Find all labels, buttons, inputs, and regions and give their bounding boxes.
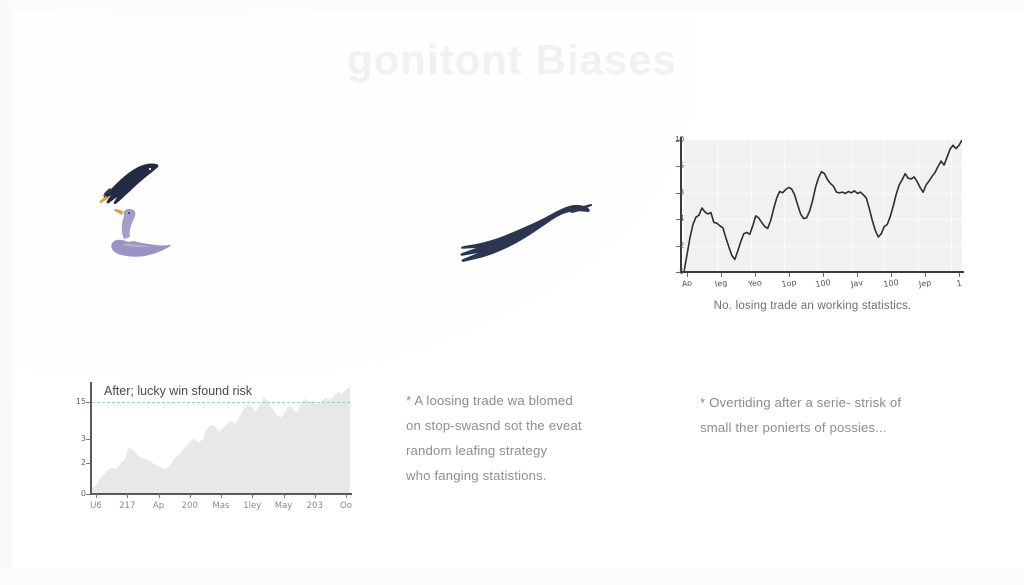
- x-tick-mark: [159, 494, 160, 498]
- y-tick-label: 0: [66, 489, 86, 498]
- x-tick-label: 200: [182, 501, 198, 511]
- x-tick-label: 100: [815, 278, 831, 289]
- text-column-middle: * A loosing trade wa blomed on stop-swas…: [406, 388, 636, 488]
- x-tick-mark: [925, 273, 926, 277]
- risk-plot-area: [92, 384, 350, 494]
- risk-area-series: [92, 384, 350, 494]
- risk-threshold-line: [92, 402, 350, 403]
- x-tick-label: 100: [883, 278, 899, 289]
- x-tick-mark: [789, 273, 790, 277]
- x-tick-mark: [755, 273, 756, 277]
- x-tick-label: 1ley: [243, 501, 261, 511]
- y-tick-mark: [86, 463, 90, 464]
- y-tick-label: 0: [660, 267, 684, 276]
- x-tick-label: Oo: [340, 501, 352, 511]
- black-swan-silhouette: [452, 186, 592, 278]
- x-tick-mark: [315, 494, 316, 498]
- x-tick-mark: [721, 273, 722, 277]
- y-tick-label: 10: [660, 135, 684, 144]
- bullet-line: on stop-swasnd sot the eveat: [406, 413, 636, 438]
- y-tick-label: 3: [66, 434, 86, 443]
- x-tick-label: Mas: [213, 501, 230, 511]
- y-tick-label: 5: [660, 161, 684, 170]
- x-tick-mark: [252, 494, 253, 498]
- x-tick-label: 1: [956, 279, 962, 289]
- canvas-left-edge: [0, 0, 12, 585]
- x-tick-label: 1op: [781, 278, 797, 289]
- x-tick-mark: [687, 273, 688, 277]
- canvas-bottom-edge: [0, 569, 1024, 585]
- x-tick-mark: [190, 494, 191, 498]
- x-tick-mark: [891, 273, 892, 277]
- y-tick-label: 4: [660, 214, 684, 223]
- y-tick-mark: [676, 166, 680, 167]
- chart-risk-after-win: After; lucky win sfound risk 15320 U6217…: [62, 382, 362, 517]
- x-tick-mark: [221, 494, 222, 498]
- x-tick-mark: [823, 273, 824, 277]
- bullet-line: * Overtiding after a serie- strisk of: [700, 390, 962, 415]
- x-tick-label: 217: [119, 501, 135, 511]
- x-tick-label: 203: [307, 501, 323, 511]
- y-tick-label: 15: [66, 397, 86, 406]
- x-tick-label: Jep: [918, 278, 931, 289]
- bullet-line: random leafing strategy: [406, 438, 636, 463]
- y-tick-label: 2: [66, 458, 86, 467]
- equity-x-axis: [680, 271, 964, 273]
- equity-line-series: [684, 140, 962, 272]
- risk-y-axis: [90, 382, 92, 494]
- chart-equity-curve: 1058420 AoIegYeo1op100Jav100Jep1 No. los…: [660, 137, 965, 327]
- x-tick-label: May: [275, 501, 293, 511]
- x-tick-mark: [857, 273, 858, 277]
- slide-canvas: gonitont Biases: [0, 0, 1024, 585]
- x-tick-mark: [127, 494, 128, 498]
- bullet-line: small ther ponierts of possies...: [700, 415, 962, 440]
- text-column-right: * Overtiding after a serie- strisk of sm…: [700, 390, 962, 440]
- y-tick-mark: [86, 494, 90, 495]
- bullet-line: * A loosing trade wa blomed: [406, 388, 636, 413]
- x-tick-mark: [959, 273, 960, 277]
- x-tick-mark: [96, 494, 97, 498]
- x-tick-label: Jav: [850, 278, 863, 289]
- equity-caption: No. losing trade an working statistics.: [660, 300, 965, 312]
- y-tick-mark: [676, 193, 680, 194]
- equity-plot-area: [684, 140, 962, 272]
- bird-pair-illustration: [86, 154, 206, 269]
- dark-bird-glyph: [98, 160, 160, 208]
- x-tick-label: Ao: [681, 278, 692, 288]
- x-tick-mark: [284, 494, 285, 498]
- equity-y-axis: [680, 137, 682, 272]
- x-tick-label: Yeo: [748, 278, 763, 289]
- purple-swan-glyph: [104, 206, 176, 262]
- y-tick-mark: [676, 246, 680, 247]
- x-tick-label: Ap: [153, 501, 164, 511]
- y-tick-mark: [86, 402, 90, 403]
- canvas-top-edge: [0, 0, 1024, 10]
- x-tick-mark: [346, 494, 347, 498]
- x-tick-label: Ieg: [714, 278, 727, 289]
- y-tick-mark: [676, 219, 680, 220]
- bullet-line: who fanging statistions.: [406, 463, 636, 488]
- y-tick-mark: [676, 140, 680, 141]
- x-tick-label: U6: [90, 501, 102, 511]
- page-title: gonitont Biases: [0, 36, 1024, 84]
- y-tick-label: 2: [660, 241, 684, 250]
- risk-threshold-label: After; lucky win sfound risk: [104, 384, 252, 398]
- y-tick-label: 8: [660, 188, 684, 197]
- y-tick-mark: [676, 272, 680, 273]
- y-tick-mark: [86, 439, 90, 440]
